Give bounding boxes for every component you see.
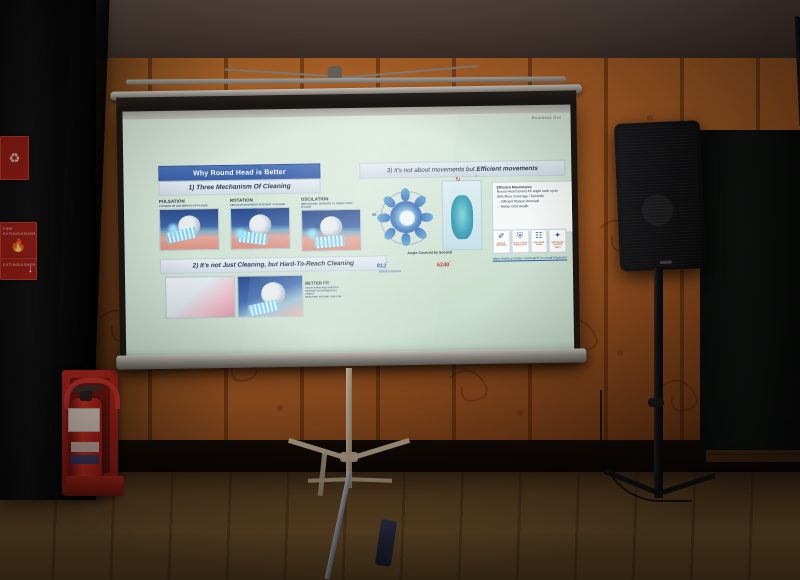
feather-icon: ✐ [498, 233, 505, 241]
extinguisher-label [71, 442, 99, 452]
speaker-grille [618, 124, 702, 267]
section3-heading-plain: 3) It's not about movements but [387, 165, 477, 173]
section3-heading-bar: 3) It's not about movements but Efficien… [359, 160, 565, 179]
projection-screen: Business Use Why Round Head is Better 1)… [116, 48, 581, 373]
directional-sign-icon: EXTINGUISHER ↓ [0, 258, 37, 280]
sign-label: FIRE EXTINGUISHER [3, 226, 36, 236]
section3-heading-bold: Efficient movements [476, 165, 538, 173]
benefit-label: HEALTHIER GUMS [534, 242, 545, 247]
benefit-label: GENTLE BRUSHING [496, 243, 506, 248]
angle-dial-diagram: 56° [372, 185, 439, 248]
shield-icon: ⛨ [517, 232, 523, 240]
extinguisher-base [66, 476, 124, 496]
extinguisher-inspection-tag [68, 408, 100, 432]
extinguisher-label-blue [71, 455, 99, 464]
benefit-label: WHITER AND CLEANER TEETH [550, 242, 566, 249]
round-head-diagram: ↻ [442, 180, 483, 251]
extinguisher-glyph: ♻ [9, 152, 21, 165]
slide-title: Why Round Head is Better [193, 168, 286, 176]
speaker-badge [660, 261, 672, 265]
section1-heading: 1) Three Mechanism Of Cleaning [188, 183, 290, 192]
screen-surface: Business Use Why Round Head is Better 1)… [123, 112, 575, 359]
section2-heading: 2) It's not Just Cleaning, but Hard-To-R… [193, 260, 355, 270]
dial-angle-value: 56° [372, 211, 378, 217]
mechanism-illustration [159, 208, 220, 251]
mechanism-rotation: ROTATION CIRCULAR MOVEMENT EFFICIENT CLE… [230, 197, 293, 250]
better-fit-lines: TEETH FORM AND ANATOMY GETTING TO INTERD… [305, 286, 367, 299]
presentation-slide: Business Use Why Round Head is Better 1)… [123, 112, 575, 359]
angle-value-round: 6240° [437, 260, 451, 268]
round-head-degree-mark: ° [475, 174, 477, 179]
fire-sign-icon: ♻ [0, 136, 29, 180]
mechanism-illustration [301, 209, 362, 252]
angle-covered-label: Angle Covered by Second [375, 250, 485, 256]
down-arrow-icon: ↓ [28, 263, 34, 275]
better-fit-callout: BETTER FIT TEETH FORM AND ANATOMY GETTIN… [305, 280, 367, 299]
sparkle-icon: ✦ [554, 232, 561, 240]
mechanism-illustration [230, 207, 291, 250]
angle-value-underline [379, 270, 401, 272]
mechanism-pulsation: PULSATION LOOSENS UP AND BREAKS UP PLAQU… [159, 198, 222, 251]
motion-arrow-icon: ↻ [455, 176, 460, 183]
better-fit-title: BETTER FIT [305, 280, 367, 286]
benefit-feather: ✐ GENTLE BRUSHING [492, 229, 510, 253]
section3-heading: 3) It's not about movements but Efficien… [387, 165, 538, 174]
benefit-teeth: ☷ HEALTHIER GUMS [530, 229, 548, 253]
curtain-right [700, 130, 800, 450]
benefit-sparkle: ✦ WHITER AND CLEANER TEETH [549, 229, 567, 253]
conference-room-photo: ♻ 🔥 FIRE EXTINGUISHER EXTINGUISHER ↓ Bus… [0, 0, 800, 580]
section2-illustration-right [237, 275, 304, 318]
section2-illustration-left [165, 276, 236, 319]
teeth-icon: ☷ [535, 232, 542, 240]
extinguisher-glyph: 🔥 [10, 239, 26, 252]
section2-heading-bar: 2) It's not Just Cleaning, but Hard-To-R… [160, 255, 387, 274]
mechanism-caption: DIRECTIONAL CHANGES TO SWEEP AWAY PLAQUE [301, 201, 363, 208]
youtube-link[interactable]: https://www.youtube.com/watch?v=oow8YGpl… [493, 256, 571, 262]
efficient-movements-box: Efficient Movements Round Head covers 4X… [492, 180, 575, 233]
benefit-icon-row: ✐ GENTLE BRUSHING ⛨ TOTAL PLAQUE PROTECT… [492, 229, 566, 254]
watermark: Business Use [532, 116, 562, 120]
efficient-line-4: → Better Oral Health [497, 203, 571, 209]
benefit-label: TOTAL PLAQUE PROTECTION [513, 242, 528, 247]
mechanism-oscilation: OSCILATION DIRECTIONAL CHANGES TO SWEEP … [301, 196, 364, 252]
section1-heading-bar: 1) Three Mechanism Of Cleaning [159, 178, 321, 196]
round-head-illustration [451, 195, 474, 239]
angle-value-manual: 812° [377, 261, 388, 269]
benefit-shield: ⛨ TOTAL PLAQUE PROTECTION [511, 229, 529, 253]
pa-speaker [614, 120, 706, 272]
